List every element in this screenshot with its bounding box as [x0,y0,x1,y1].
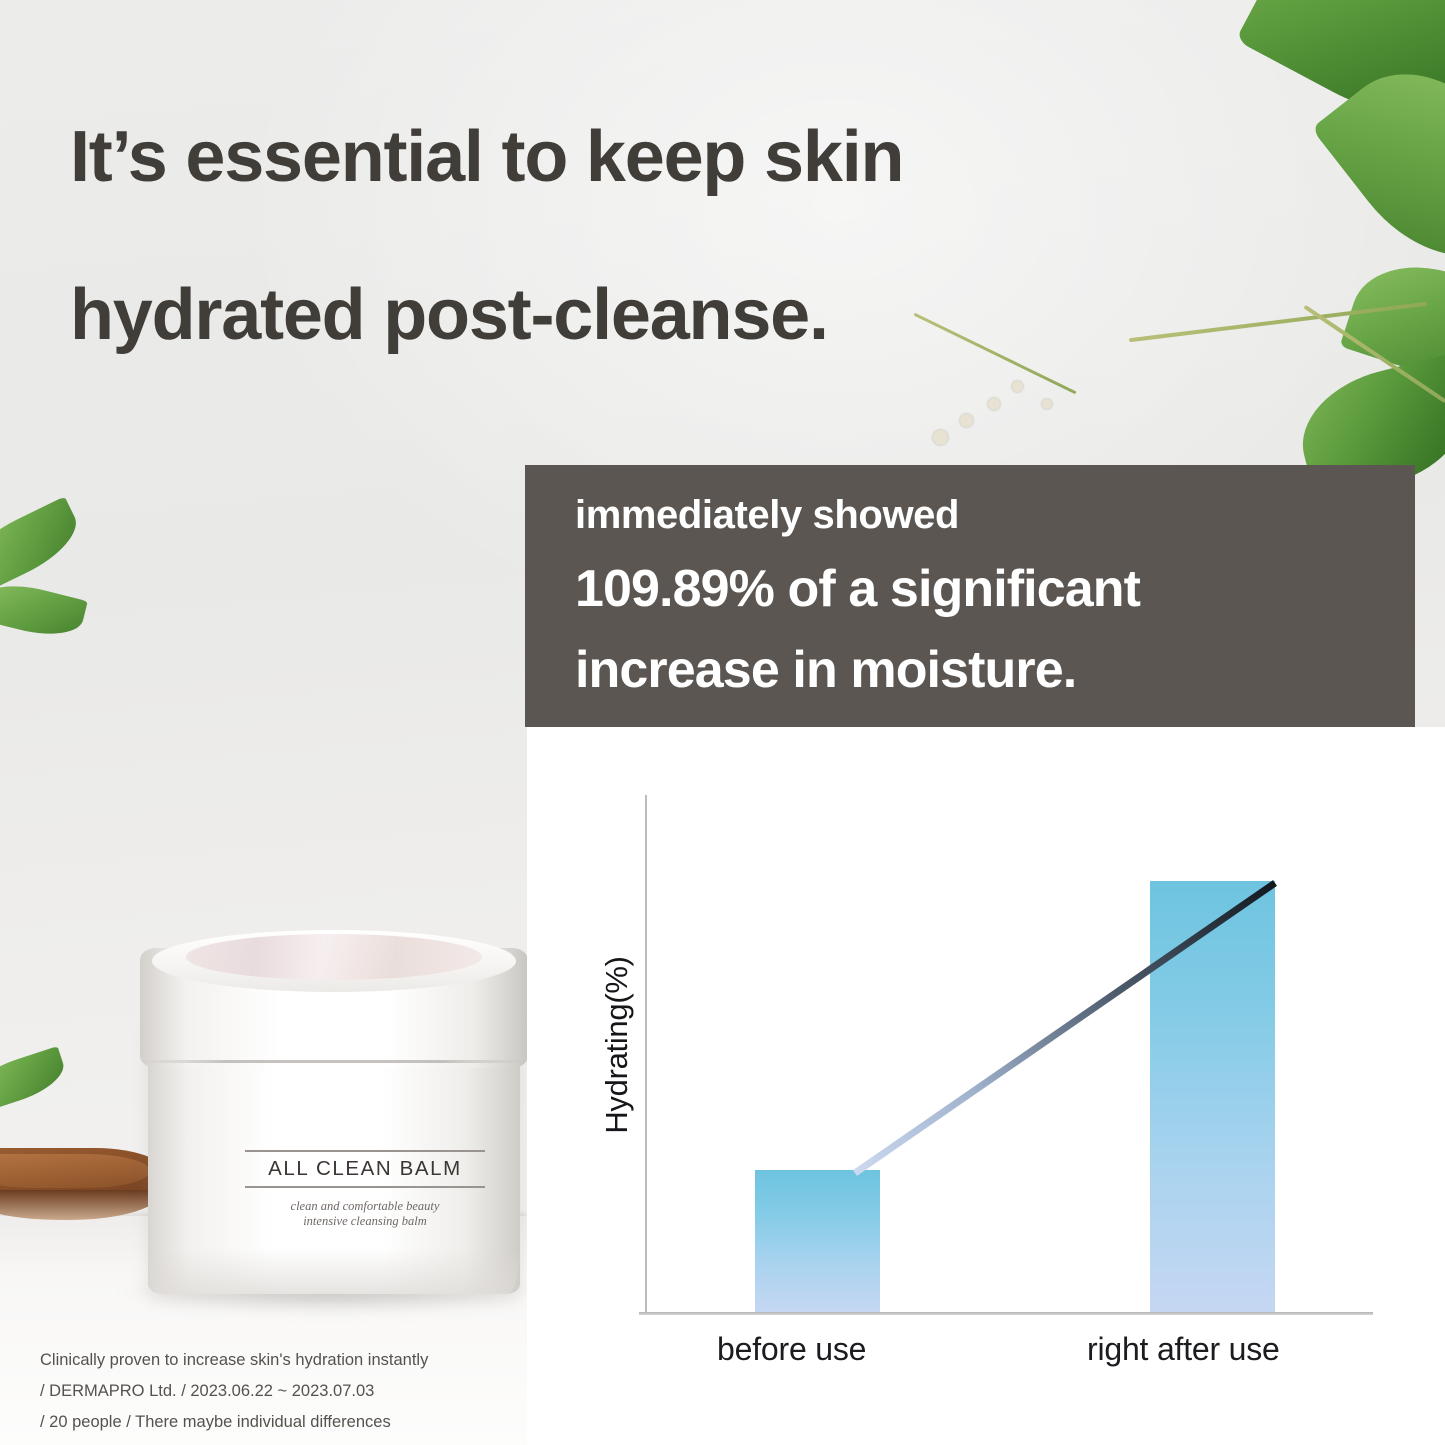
product-label-title: ALL CLEAN BALM [245,1157,485,1181]
headline-line-1: It’s essential to keep skin [70,78,1210,236]
product-label-subtitle-line2: intensive cleansing balm [235,1214,495,1229]
product-label-subtitle-line1: clean and comfortable beauty [235,1199,495,1214]
callout-line-2: 109.89% of a significant [575,549,1140,630]
chart-y-axis-label: Hydrating(%) [599,915,635,1175]
label-rule-bottom [245,1186,485,1188]
disclaimer-line-3: / 20 people / There maybe individual dif… [40,1407,520,1438]
callout-line-3: increase in moisture. [575,630,1140,711]
chart-category-label-1: before use [717,1331,866,1368]
disclaimer: Clinically proven to increase skin's hyd… [40,1345,520,1438]
callout-line-1: immediately showed [575,493,959,538]
chart-trend-line [755,867,1275,1177]
chart-category-label-2: right after use [1087,1331,1280,1368]
disclaimer-line-1: Clinically proven to increase skin's hyd… [40,1345,520,1376]
chart-panel: Hydrating(%) before use right after use [527,727,1445,1445]
berry-icon [960,414,973,427]
product-label-subtitle: clean and comfortable beauty intensive c… [235,1199,495,1229]
berry-icon [933,430,948,445]
product-jar-seam [141,1060,527,1063]
chart-x-axis-line [639,1312,1373,1315]
statistic-callout: immediately showed 109.89% of a signific… [525,465,1415,727]
disclaimer-line-2: / DERMAPRO Ltd. / 2023.06.22 ~ 2023.07.0… [40,1376,520,1407]
advertisement-canvas: ALL CLEAN BALM clean and comfortable bea… [0,0,1445,1445]
headline-line-2: hydrated post-cleanse. [70,236,1210,394]
product-jar-lid-artwork [186,934,482,980]
berry-icon [988,398,1000,410]
chart-y-axis-line [645,795,647,1313]
wooden-dish-inner [0,1154,150,1188]
chart-bar-before-use [755,1170,880,1312]
berry-icon [1042,399,1052,409]
callout-statistic: 109.89% of a significant increase in moi… [575,549,1140,711]
label-rule-top [245,1150,485,1152]
page-title: It’s essential to keep skin hydrated pos… [70,78,1210,394]
